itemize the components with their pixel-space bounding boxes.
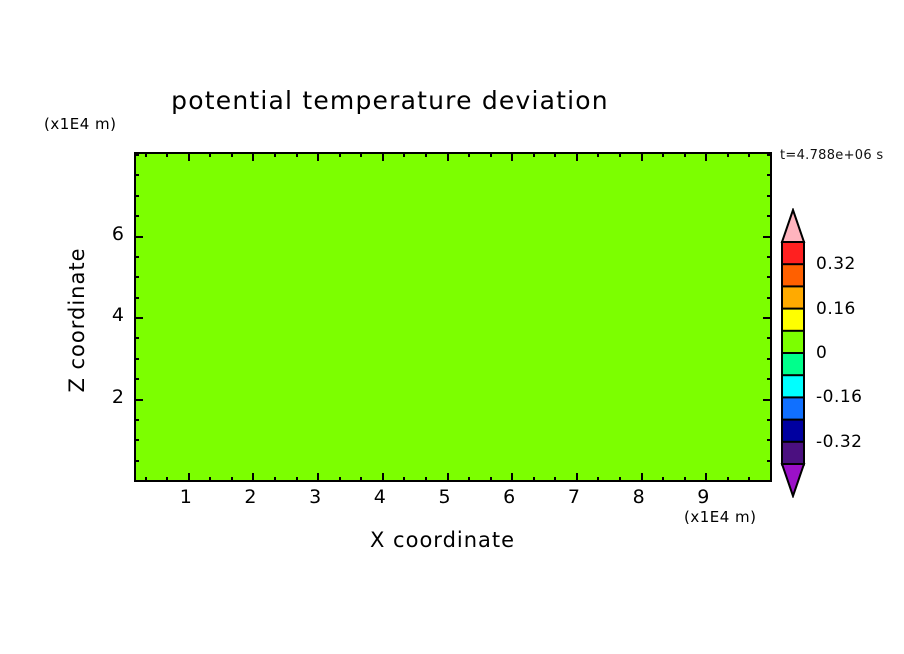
colorbar-tick-label: -0.32 [816, 432, 863, 452]
x-axis-tick-top [533, 152, 535, 157]
x-axis-tick [619, 477, 621, 482]
y-axis-tick [134, 439, 139, 441]
y-axis-tick-label: 2 [94, 386, 124, 408]
x-axis-tick-top [576, 152, 578, 161]
y-axis-tick-label: 4 [94, 304, 124, 326]
x-axis-tick-label: 4 [365, 486, 395, 508]
y-axis-tick-right [763, 317, 772, 319]
x-axis-tick [490, 477, 492, 482]
y-axis-tick-right [767, 480, 772, 482]
x-axis-tick [468, 477, 470, 482]
x-axis-tick-top [705, 152, 707, 161]
x-axis-tick-label: 8 [624, 486, 654, 508]
y-axis-tick-right [767, 297, 772, 299]
y-axis-tick-right [767, 358, 772, 360]
x-axis-tick-top [490, 152, 492, 157]
x-axis-tick-top [684, 152, 686, 157]
y-axis-tick-right [767, 256, 772, 258]
x-axis-tick [209, 477, 211, 482]
x-axis-tick-top [209, 152, 211, 157]
colorbar[interactable]: 0.320.160-0.16-0.32 [780, 208, 900, 498]
colorbar-tick-label: -0.16 [816, 387, 863, 407]
y-axis-tick [134, 215, 139, 217]
x-axis-tick [317, 473, 319, 482]
chart-title: potential temperature deviation [0, 86, 780, 115]
x-axis-tick-top [274, 152, 276, 157]
x-axis-tick-top [597, 152, 599, 157]
x-axis-tick [641, 473, 643, 482]
x-axis-tick-label: 6 [494, 486, 524, 508]
x-axis-tick-label: 3 [300, 486, 330, 508]
x-axis-tick-top [403, 152, 405, 157]
x-axis-tick [360, 477, 362, 482]
y-axis-tick [134, 480, 139, 482]
y-axis-tick [134, 256, 139, 258]
x-axis-tick [339, 477, 341, 482]
y-axis-tick [134, 297, 139, 299]
simulation-timestamp: t=4.788e+06 s [780, 148, 883, 163]
x-axis-tick-top [727, 152, 729, 157]
x-axis-tick [447, 473, 449, 482]
y-axis-tick-right [767, 337, 772, 339]
x-axis-tick-top [339, 152, 341, 157]
x-axis-tick-top [166, 152, 168, 157]
x-axis-tick-top [296, 152, 298, 157]
y-axis-tick-right [767, 174, 772, 176]
y-axis-tick [134, 399, 143, 401]
x-axis-unit-label: (x1E4 m) [684, 508, 757, 526]
x-axis-tick [533, 477, 535, 482]
x-axis-tick-label: 1 [171, 486, 201, 508]
y-axis-tick-right [763, 236, 772, 238]
y-axis-title: Z coordinate [65, 220, 89, 420]
y-axis-tick [134, 378, 139, 380]
x-axis-tick [576, 473, 578, 482]
x-axis-tick [166, 477, 168, 482]
x-axis-tick [274, 477, 276, 482]
x-axis-tick [554, 477, 556, 482]
y-axis-tick-right [767, 154, 772, 156]
y-axis-tick [134, 276, 139, 278]
x-axis-tick-label: 7 [559, 486, 589, 508]
x-axis-tick [403, 477, 405, 482]
colorbar-swatches [780, 208, 814, 498]
x-axis-tick-top [554, 152, 556, 157]
x-axis-tick [597, 477, 599, 482]
x-axis-tick-top [317, 152, 319, 161]
x-axis-tick [748, 477, 750, 482]
x-axis-tick-top [619, 152, 621, 157]
x-axis-tick-top [662, 152, 664, 157]
x-axis-tick-top [382, 152, 384, 161]
x-axis-tick [145, 477, 147, 482]
y-axis-tick [134, 236, 143, 238]
y-axis-tick-right [767, 419, 772, 421]
colorbar-tick-label: 0.32 [816, 254, 856, 274]
y-axis-tick-right [767, 276, 772, 278]
x-axis-tick [727, 477, 729, 482]
y-axis-tick-right [767, 460, 772, 462]
x-axis-tick [252, 473, 254, 482]
x-axis-tick-top [641, 152, 643, 161]
y-axis-tick-right [763, 399, 772, 401]
y-axis-tick [134, 154, 139, 156]
y-axis-tick-right [767, 378, 772, 380]
y-axis-unit-label: (x1E4 m) [44, 115, 117, 133]
x-axis-tick [425, 477, 427, 482]
x-axis-tick [296, 477, 298, 482]
y-axis-tick-right [767, 195, 772, 197]
y-axis-tick-right [767, 439, 772, 441]
x-axis-tick [662, 477, 664, 482]
x-axis-tick-top [511, 152, 513, 161]
x-axis-tick-top [188, 152, 190, 161]
y-axis-tick [134, 358, 139, 360]
x-axis-tick [684, 477, 686, 482]
y-axis-tick-label: 6 [94, 223, 124, 245]
x-axis-title: X coordinate [370, 528, 515, 552]
y-axis-tick [134, 337, 139, 339]
y-axis-tick-right [767, 215, 772, 217]
x-axis-tick-label: 5 [430, 486, 460, 508]
colorbar-tick-label: 0 [816, 343, 827, 363]
contour-field-canvas [136, 154, 770, 480]
y-axis-tick [134, 460, 139, 462]
x-axis-tick-top [468, 152, 470, 157]
y-axis-tick [134, 419, 139, 421]
x-axis-tick-top [748, 152, 750, 157]
x-axis-tick [705, 473, 707, 482]
x-axis-tick [231, 477, 233, 482]
x-axis-tick-top [425, 152, 427, 157]
y-axis-tick [134, 195, 139, 197]
x-axis-tick-top [145, 152, 147, 157]
x-axis-tick [188, 473, 190, 482]
contour-plot-area[interactable] [134, 152, 772, 482]
x-axis-tick-top [231, 152, 233, 157]
colorbar-tick-label: 0.16 [816, 299, 856, 319]
x-axis-tick-top [360, 152, 362, 157]
x-axis-tick-label: 9 [688, 486, 718, 508]
y-axis-tick [134, 174, 139, 176]
x-axis-tick-label: 2 [235, 486, 265, 508]
x-axis-tick-top [447, 152, 449, 161]
y-axis-tick [134, 317, 143, 319]
x-axis-tick [382, 473, 384, 482]
x-axis-tick-top [252, 152, 254, 161]
x-axis-tick [511, 473, 513, 482]
